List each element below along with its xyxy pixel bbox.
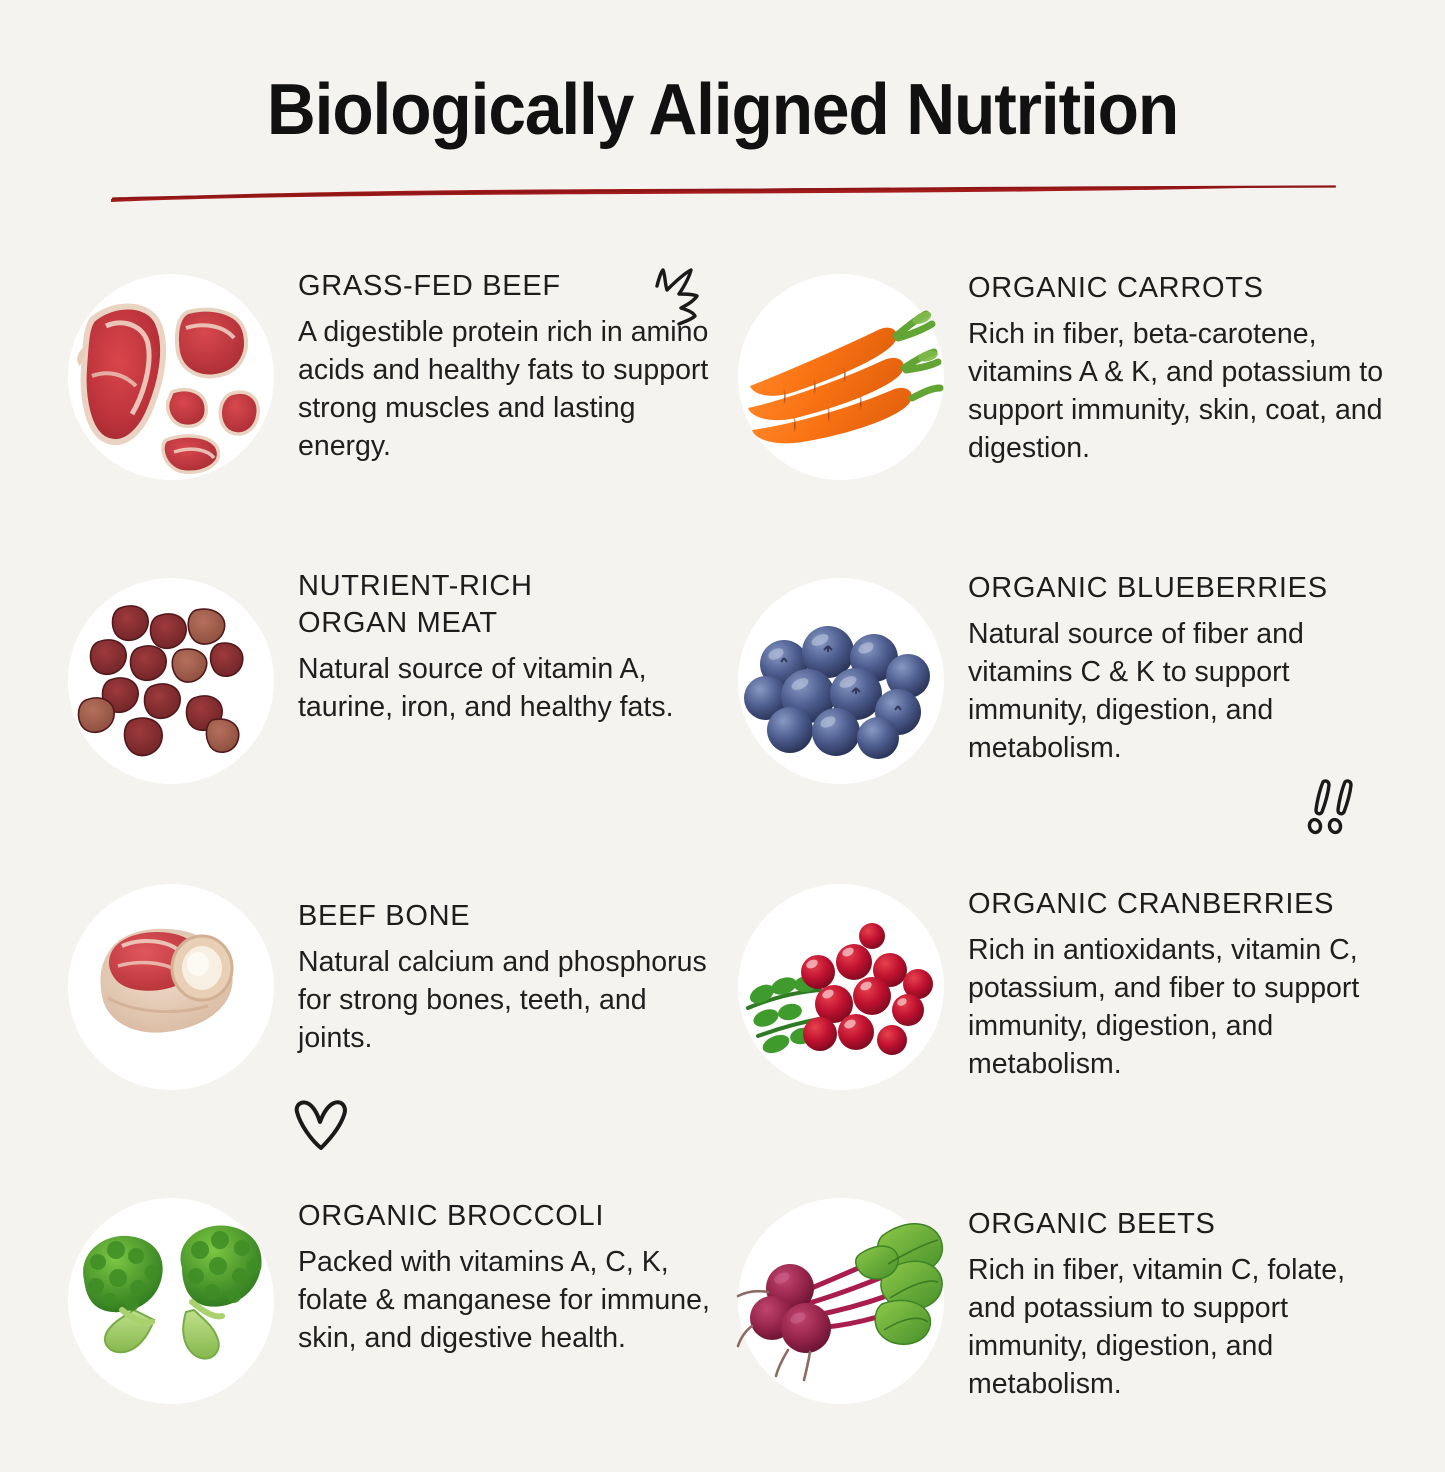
ingredient-copy: ORGANIC BLUEBERRIES Natural source of fi… bbox=[968, 566, 1432, 768]
ingredient-name: BEEF BONE bbox=[298, 898, 722, 935]
ingredient-thumbnail bbox=[62, 878, 280, 1096]
brush-rule-icon bbox=[107, 181, 1339, 207]
ingredient-description: Natural calcium and phosphorus for stron… bbox=[298, 944, 718, 1058]
page-header: Biologically Aligned Nutrition bbox=[0, 0, 1445, 207]
ingredient-name: ORGANIC CARROTS bbox=[968, 270, 1432, 307]
ingredient-copy: NUTRIENT-RICH ORGAN MEAT Natural source … bbox=[298, 566, 722, 727]
ingredient-cranberries: ORGANIC CRANBERRIES Rich in antioxidants… bbox=[732, 876, 1432, 1166]
ingredient-description: A digestible protein rich in amino acids… bbox=[298, 314, 718, 466]
ingredient-thumbnail bbox=[732, 268, 950, 486]
ingredient-copy: ORGANIC BEETS Rich in fiber, vitamin C, … bbox=[968, 1184, 1432, 1404]
ingredient-thumbnail bbox=[62, 268, 280, 486]
ingredient-name: NUTRIENT-RICH ORGAN MEAT bbox=[298, 568, 722, 642]
ingredient-name: ORGANIC BROCCOLI bbox=[298, 1198, 722, 1235]
ingredient-copy: ORGANIC CRANBERRIES Rich in antioxidants… bbox=[968, 876, 1432, 1084]
ingredients-column-left: GRASS-FED BEEF A digestible protein rich… bbox=[62, 262, 722, 1472]
heart-doodle bbox=[291, 1098, 349, 1156]
double-exclamation-doodle bbox=[1301, 776, 1365, 838]
infographic-page: Biologically Aligned Nutrition bbox=[0, 0, 1445, 1445]
ingredient-thumbnail bbox=[732, 878, 950, 1096]
ingredient-beef-bone: BEEF BONE Natural calcium and phosphorus… bbox=[62, 876, 722, 1166]
page-title: Biologically Aligned Nutrition bbox=[43, 74, 1401, 147]
beef-marrow-bone-icon bbox=[62, 878, 280, 1096]
ingredient-thumbnail bbox=[732, 1192, 950, 1410]
ingredient-name: ORGANIC BEETS bbox=[968, 1206, 1432, 1243]
blueberries-icon bbox=[732, 572, 950, 790]
spark-zigzag-doodle bbox=[651, 264, 713, 332]
title-underline bbox=[0, 181, 1445, 207]
broccoli-florets-icon bbox=[62, 1192, 280, 1410]
ingredient-beets: ORGANIC BEETS Rich in fiber, vitamin C, … bbox=[732, 1184, 1432, 1454]
ingredient-thumbnail bbox=[62, 1192, 280, 1410]
ingredient-broccoli: ORGANIC BROCCOLI Packed with vitamins A,… bbox=[62, 1184, 722, 1454]
ingredients-column-right: ORGANIC CARROTS Rich in fiber, beta-caro… bbox=[732, 262, 1432, 1472]
beef-steak-and-cubes-icon bbox=[62, 268, 280, 486]
ingredient-organ-meat: NUTRIENT-RICH ORGAN MEAT Natural source … bbox=[62, 566, 722, 858]
organ-meat-cubes-icon bbox=[62, 572, 280, 790]
ingredient-description: Natural source of vitamin A, taurine, ir… bbox=[298, 651, 718, 727]
ingredient-copy: ORGANIC BROCCOLI Packed with vitamins A,… bbox=[298, 1184, 722, 1358]
ingredient-description: Natural source of fiber and vitamins C &… bbox=[968, 616, 1398, 768]
ingredient-description: Rich in fiber, vitamin C, folate, and po… bbox=[968, 1252, 1398, 1404]
ingredient-description: Packed with vitamins A, C, K, folate & m… bbox=[298, 1244, 718, 1358]
ingredient-carrots: ORGANIC CARROTS Rich in fiber, beta-caro… bbox=[732, 262, 1432, 548]
ingredient-thumbnail bbox=[62, 572, 280, 790]
ingredients-grid: GRASS-FED BEEF A digestible protein rich… bbox=[0, 262, 1445, 1472]
ingredient-copy: BEEF BONE Natural calcium and phosphorus… bbox=[298, 876, 722, 1058]
ingredient-thumbnail bbox=[732, 572, 950, 790]
ingredient-grass-fed-beef: GRASS-FED BEEF A digestible protein rich… bbox=[62, 262, 722, 548]
beets-icon bbox=[732, 1192, 950, 1410]
ingredient-description: Rich in fiber, beta-carotene, vitamins A… bbox=[968, 316, 1398, 468]
carrots-icon bbox=[732, 268, 950, 486]
ingredient-description: Rich in antioxidants, vitamin C, potassi… bbox=[968, 932, 1398, 1084]
ingredient-name: ORGANIC CRANBERRIES bbox=[968, 886, 1432, 923]
ingredient-name: ORGANIC BLUEBERRIES bbox=[968, 570, 1432, 607]
cranberries-icon bbox=[732, 878, 950, 1096]
ingredient-copy: ORGANIC CARROTS Rich in fiber, beta-caro… bbox=[968, 262, 1432, 468]
